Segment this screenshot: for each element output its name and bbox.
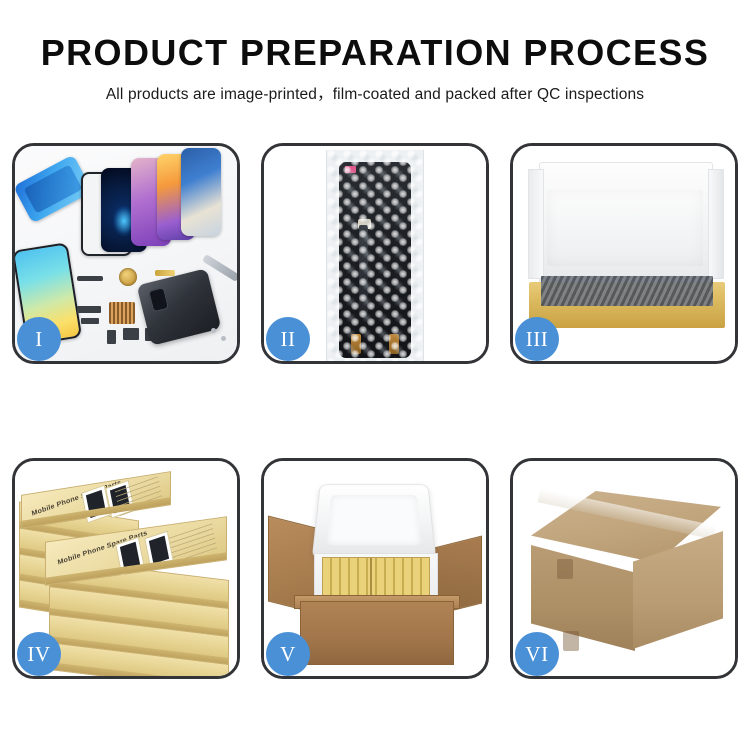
carton-front-wall bbox=[300, 601, 454, 665]
button-part bbox=[107, 330, 116, 344]
carton-seam-patch-bottom bbox=[563, 631, 579, 651]
small-board-part bbox=[81, 318, 99, 324]
step-6-badge: VI bbox=[515, 632, 559, 676]
process-step-4: Mobile Phone Spare Parts Mobile Phone Sp… bbox=[12, 458, 240, 679]
page-header: PRODUCT PREPARATION PROCESS All products… bbox=[0, 0, 750, 104]
gold-flex-part-a bbox=[155, 270, 175, 276]
chip-grid-part bbox=[109, 302, 135, 324]
yellow-boxes-inside bbox=[322, 557, 430, 599]
foam-lid bbox=[312, 484, 436, 559]
process-step-3: III bbox=[510, 143, 738, 364]
process-step-6: VI bbox=[510, 458, 738, 679]
process-step-grid: I II III bbox=[12, 143, 738, 679]
step-3-badge: III bbox=[515, 317, 559, 361]
page-title: PRODUCT PREPARATION PROCESS bbox=[0, 34, 750, 72]
step-2-badge: II bbox=[266, 317, 310, 361]
step-1-badge: I bbox=[17, 317, 61, 361]
connector-strip-part bbox=[77, 306, 101, 313]
white-foam-sheet bbox=[547, 190, 703, 266]
blue-gradient-phone-screen bbox=[181, 148, 221, 236]
process-step-2: II bbox=[261, 143, 489, 364]
screw-part-a bbox=[211, 328, 216, 333]
page-subtitle: All products are image-printed，film-coat… bbox=[0, 82, 750, 104]
camera-module-part bbox=[123, 328, 139, 340]
process-step-1: I bbox=[12, 143, 240, 364]
kraft-box-tray bbox=[529, 282, 725, 328]
process-step-5: V bbox=[261, 458, 489, 679]
bubble-wrap-bag bbox=[326, 150, 424, 361]
step-4-badge: IV bbox=[17, 632, 61, 676]
earpiece-mesh-part bbox=[77, 276, 103, 281]
vibration-motor-part bbox=[119, 268, 137, 286]
printed-box-rear: Mobile Phone Spare Parts bbox=[21, 471, 171, 529]
screw-part-b bbox=[221, 336, 226, 341]
bubble-texture bbox=[327, 150, 423, 361]
carton-seam-patch-top bbox=[557, 559, 573, 579]
step-5-badge: V bbox=[266, 632, 310, 676]
